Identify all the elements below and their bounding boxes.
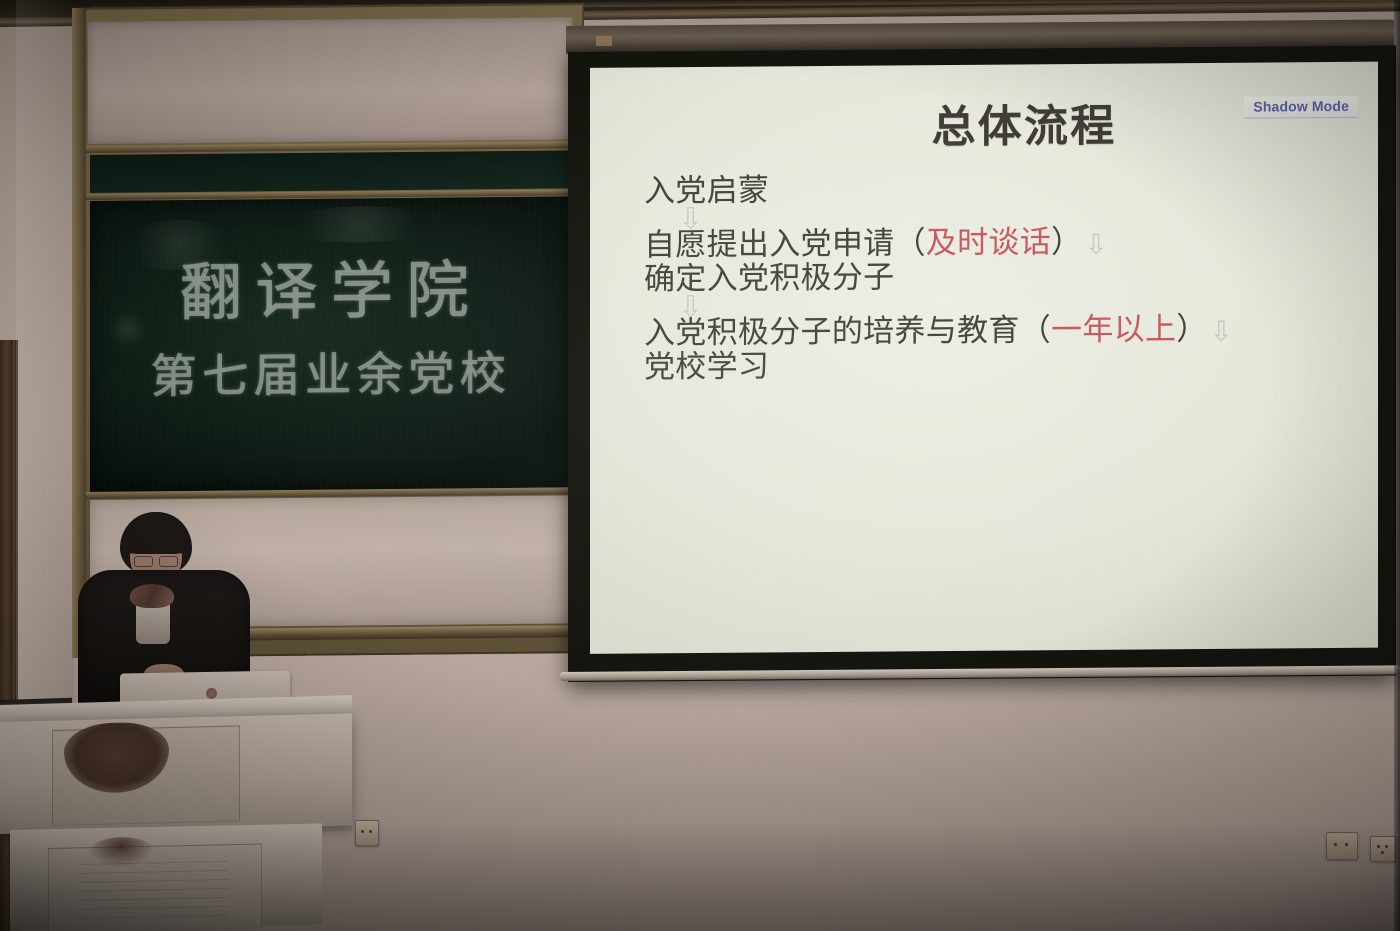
wall-socket[interactable]: [355, 820, 379, 846]
presentation-slide: 总体流程 Shadow Mode 入党启蒙 ⇩ 自愿提出入党申请（及时谈话）⇩ …: [590, 62, 1378, 654]
flow-step-4-highlight: 一年以上: [1051, 311, 1176, 348]
flow-step-2-tail: ）: [1051, 224, 1082, 260]
podium-vent-lines: [78, 861, 228, 926]
flow-step-1-text: 入党启蒙: [644, 172, 769, 209]
socket-pin: [1381, 851, 1384, 854]
blackboard-upper-panel: [88, 17, 572, 144]
flow-step-2-highlight: 及时谈话: [926, 224, 1051, 261]
socket-pin: [1334, 843, 1337, 846]
socket-pin: [1345, 843, 1348, 846]
screen-roller-bracket: [596, 36, 612, 46]
shadow-mode-badge[interactable]: Shadow Mode: [1244, 96, 1358, 119]
flow-step-4-tail: ）: [1176, 311, 1207, 347]
projector-screen: 总体流程 Shadow Mode 入党启蒙 ⇩ 自愿提出入党申请（及时谈话）⇩ …: [568, 45, 1396, 682]
flow-step-5-text: 党校学习: [644, 349, 769, 386]
blackboard-surface: 翻译学院 第七届业余党校: [90, 196, 572, 492]
right-edge-shadow: [1394, 0, 1400, 931]
socket-pin: [1385, 845, 1388, 848]
down-arrow-icon: ⇩: [1084, 230, 1108, 260]
laptop-logo-icon: [206, 688, 217, 699]
socket-pin: [361, 830, 364, 833]
glasses-icon: [134, 556, 178, 565]
podium-lower-stain: [88, 837, 154, 868]
wall-socket[interactable]: [1370, 836, 1396, 862]
socket-pin: [369, 830, 372, 833]
socket-pin: [1377, 845, 1380, 848]
flow-step-5: 党校学习: [644, 346, 1338, 385]
flow-step-4: 入党积极分子的培养与教育（一年以上）⇩: [644, 312, 1338, 351]
blackboard-strip: [90, 150, 572, 193]
blackboard-text-line-2: 第七届业余党校: [90, 336, 572, 407]
slide-body: 入党启蒙 ⇩ 自愿提出入党申请（及时谈话）⇩ 确定入党积极分子 ⇩ 入党积极分子…: [644, 170, 1338, 385]
presenter-scarf: [130, 584, 174, 608]
wall-socket[interactable]: [1326, 832, 1358, 860]
blackboard-text-line-1: 翻译学院: [90, 238, 572, 333]
flow-step-2: 自愿提出入党申请（及时谈话）⇩: [644, 224, 1338, 263]
lecture-hall-photo: 翻译学院 第七届业余党校 总体流程 Shadow Mode 入党启蒙 ⇩ 自愿提…: [0, 0, 1400, 931]
flow-step-2-text: 自愿提出入党申请（: [644, 225, 926, 263]
flow-step-4-text: 入党积极分子的培养与教育（: [644, 312, 1051, 351]
screen-surface: 总体流程 Shadow Mode 入党启蒙 ⇩ 自愿提出入党申请（及时谈话）⇩ …: [590, 62, 1378, 654]
down-arrow-icon: ⇩: [1210, 317, 1234, 347]
